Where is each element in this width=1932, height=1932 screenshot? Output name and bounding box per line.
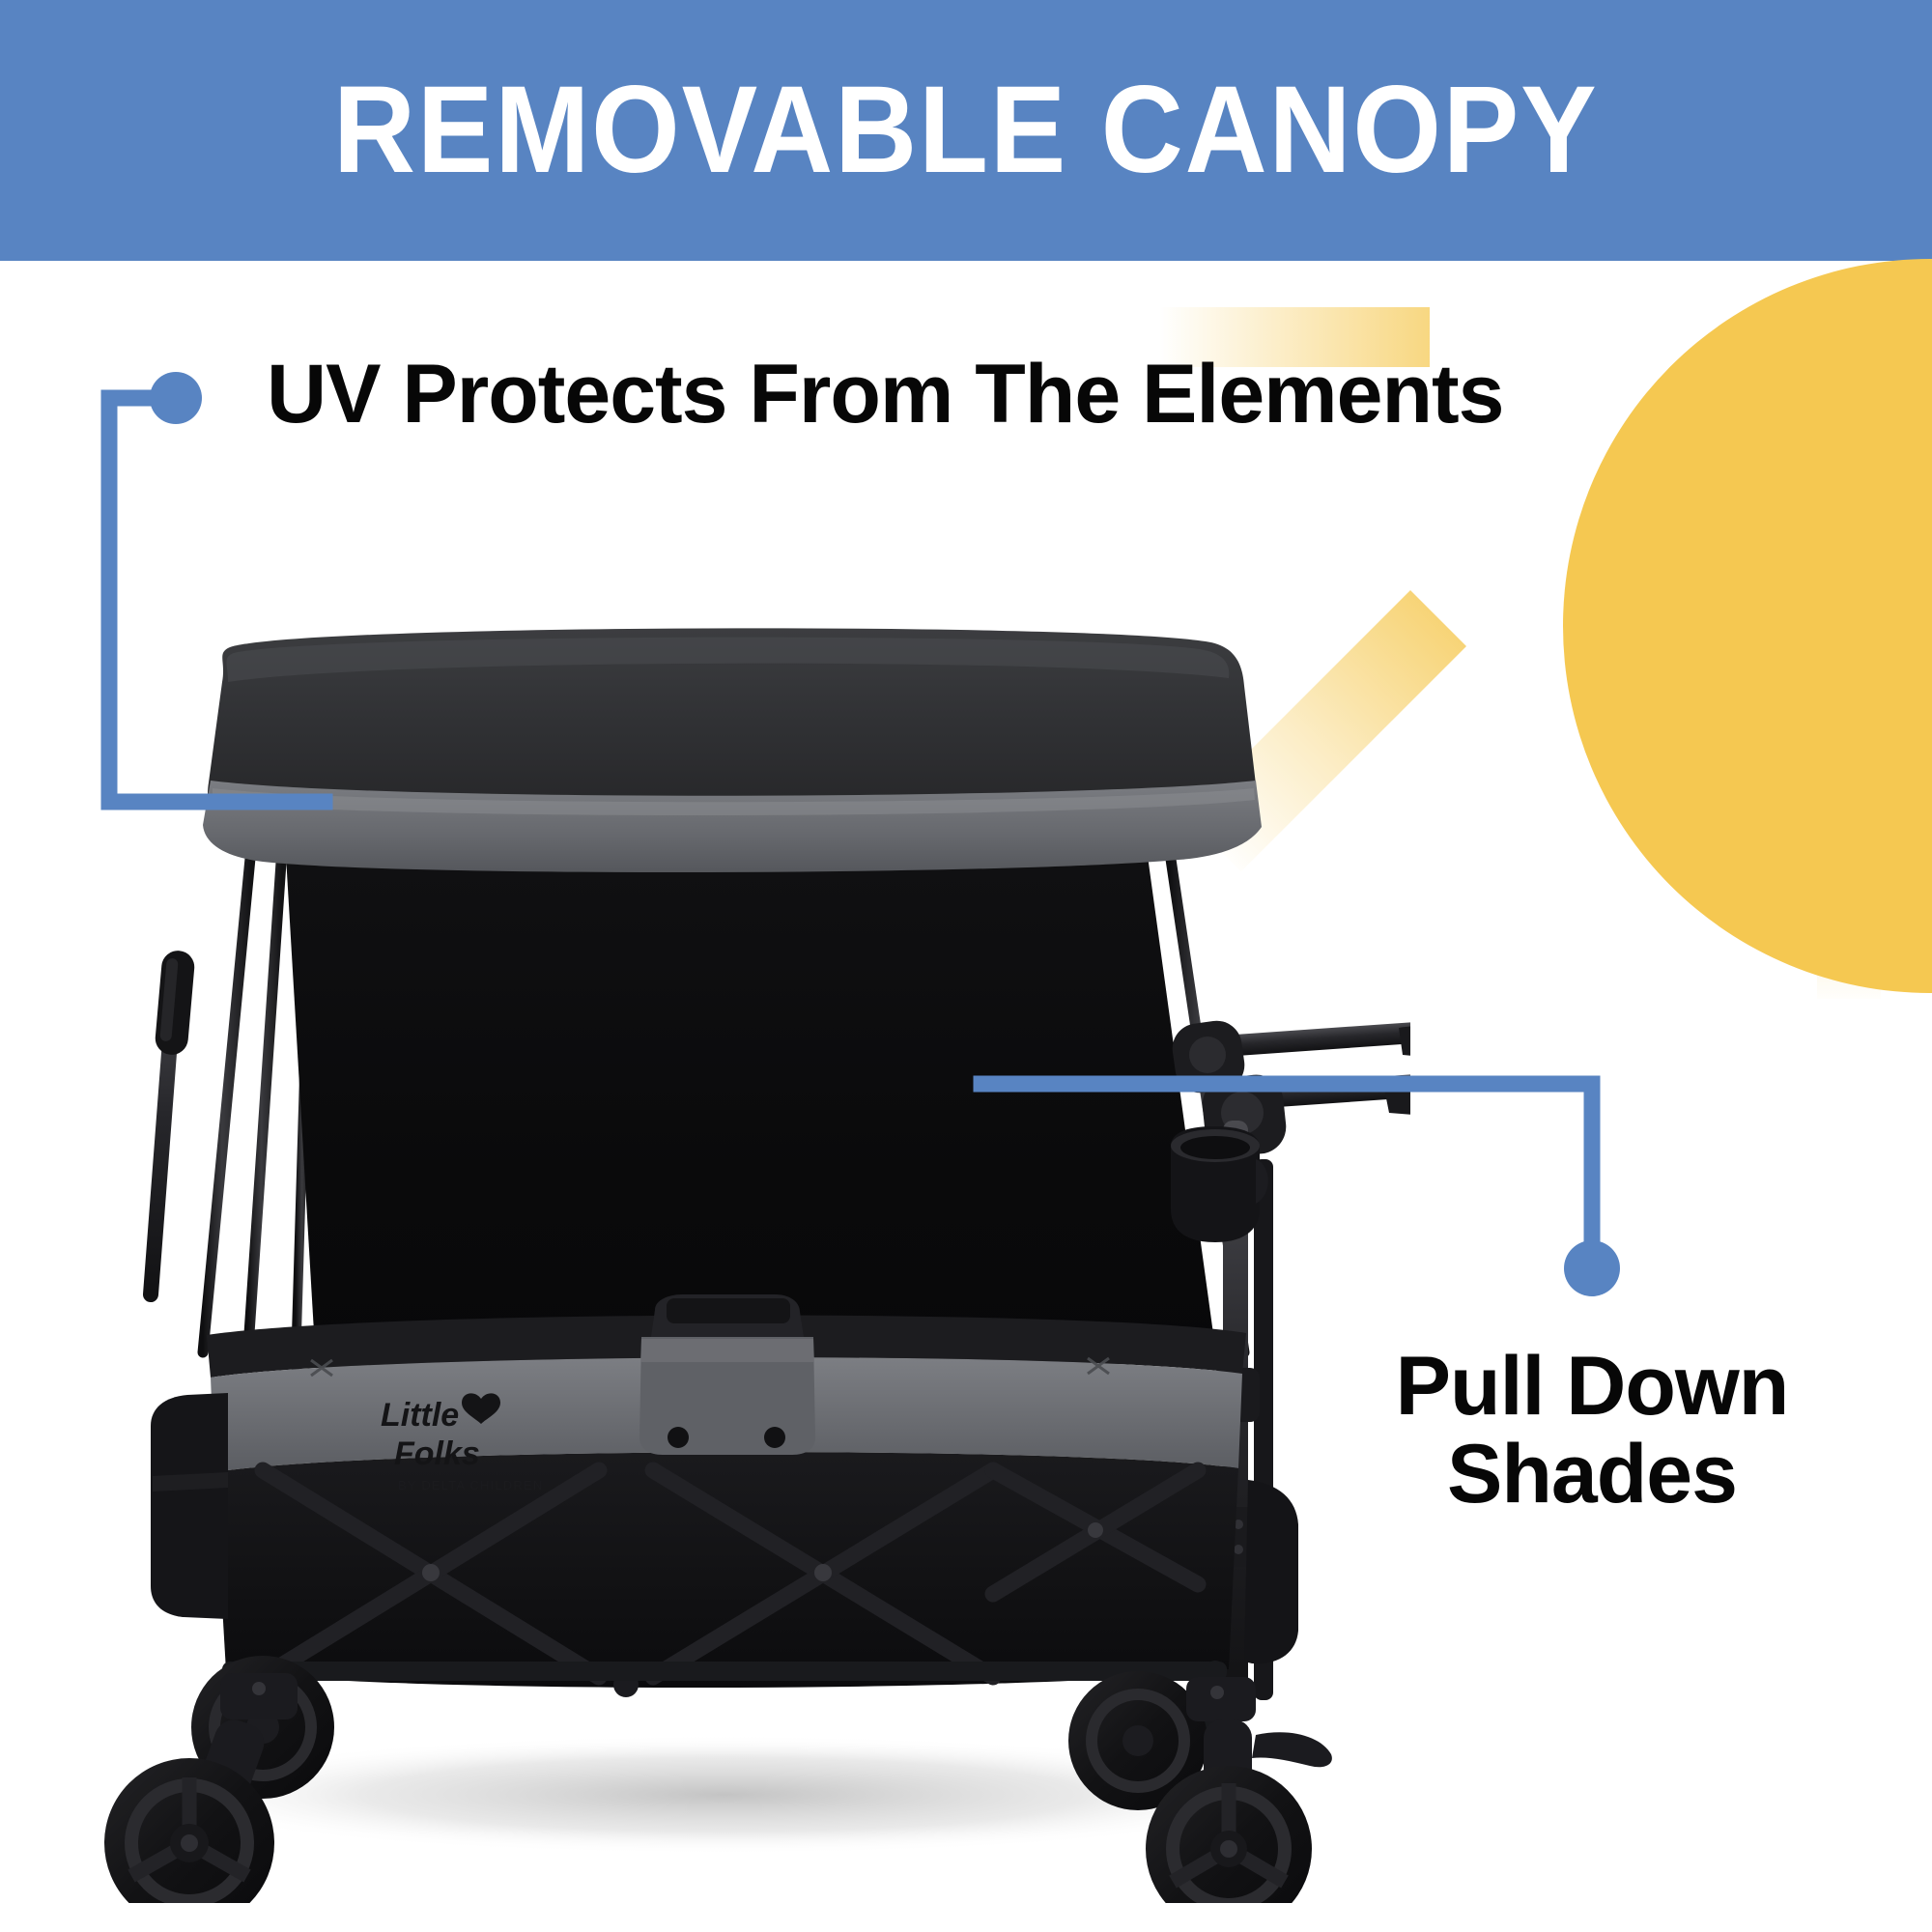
brake-lever <box>1252 1732 1332 1767</box>
infographic-canvas: REMOVABLE CANOPY <box>0 0 1932 1932</box>
callout-label-shades-line1: Pull Down <box>1396 1340 1789 1433</box>
wagon-illustration: Little Folks BY DELTA CHILDREN <box>58 618 1410 1903</box>
callout-label-shades-line2: Shades <box>1302 1431 1882 1519</box>
brand-name-line1: Little <box>381 1397 459 1434</box>
callout-dot-shades <box>1564 1240 1620 1296</box>
product-photo: Little Folks BY DELTA CHILDREN <box>58 618 1410 1903</box>
front-caster-wheels <box>104 1656 334 1903</box>
side-storage-pocket <box>151 1393 228 1619</box>
brand-name-line2: Folks <box>394 1435 480 1472</box>
body-lower-panel <box>214 1452 1238 1688</box>
vertical-gradient-bar-decoration <box>1817 759 1881 999</box>
callout-label-shades: Pull Down Shades <box>1302 1343 1882 1519</box>
callout-dot-uv <box>150 372 202 424</box>
brand-subtitle: BY DELTA CHILDREN <box>398 1478 543 1492</box>
side-storage-pocket-right <box>1244 1480 1298 1663</box>
pull-handle <box>151 950 196 1294</box>
header-banner: REMOVABLE CANOPY <box>0 0 1932 261</box>
cup-holder <box>1171 1126 1268 1242</box>
page-title: REMOVABLE CANOPY <box>333 69 1599 192</box>
callout-label-uv: UV Protects From The Elements <box>267 353 1503 436</box>
center-flap-pocket <box>639 1294 815 1455</box>
removable-canopy <box>203 628 1262 872</box>
